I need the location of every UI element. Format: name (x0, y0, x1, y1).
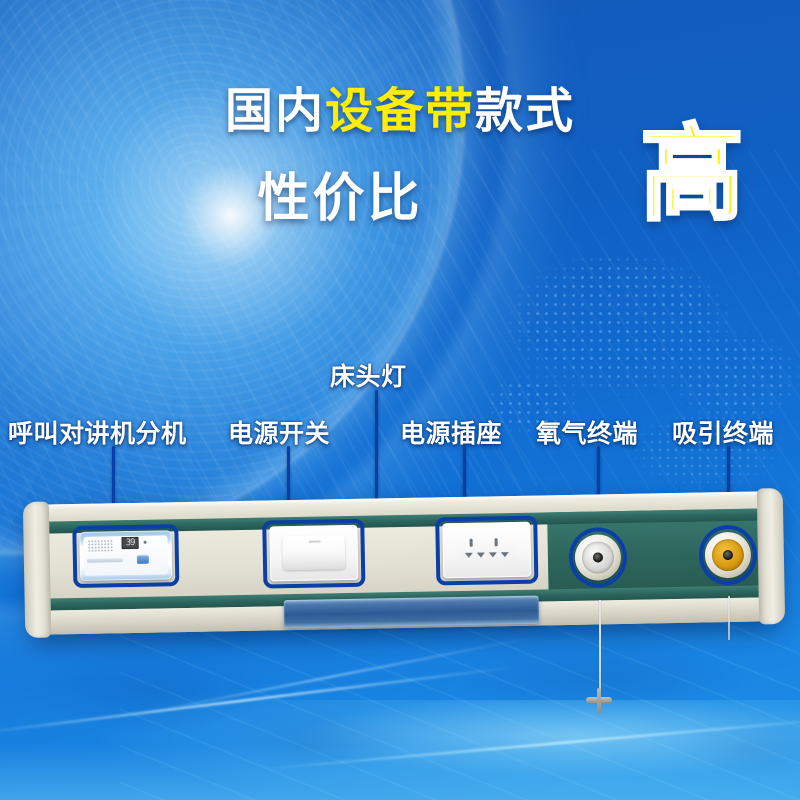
bed-lamp-diffuser[interactable] (284, 596, 539, 629)
callout-label-suction: 吸引终端 (672, 414, 774, 450)
fitting-stem (597, 688, 601, 714)
highlight-box-intercom (72, 524, 179, 588)
oxygen-hose-cord (599, 600, 601, 696)
headline-block: 国内设备带款式 性价比 高 (0, 86, 800, 242)
suction-hose-cord (728, 596, 730, 640)
bottom-glow-fade (0, 745, 800, 800)
callout-label-power-switch: 电源开关 (228, 414, 330, 450)
headline-line-2-row: 性价比 高 (0, 156, 800, 242)
highlight-box-power-switch (262, 519, 365, 589)
headline-seg-2: 设备带 (325, 83, 475, 139)
hose-fitting-icon (586, 688, 612, 714)
panel-end-cap-left (23, 501, 51, 637)
callout-label-intercom: 呼叫对讲机分机 (8, 414, 187, 450)
headline-seg-3: 款式 (475, 83, 575, 139)
highlight-box-power-socket (435, 516, 538, 586)
callout-label-power-socket: 电源插座 (400, 414, 502, 450)
callout-label-oxygen: 氧气终端 (536, 414, 638, 450)
medical-bed-head-unit: 39 (27, 491, 781, 635)
callout-label-bed-lamp: 床头灯 (330, 357, 407, 393)
panel-end-cap-right (757, 488, 785, 624)
headline-emphasis-char: 高 (640, 122, 744, 226)
headline-seg-1: 国内 (225, 83, 325, 139)
promo-banner: 国内设备带款式 性价比 高 呼叫对讲机分机 电源开关 床头灯 电源插座 氧气终端… (0, 0, 800, 800)
